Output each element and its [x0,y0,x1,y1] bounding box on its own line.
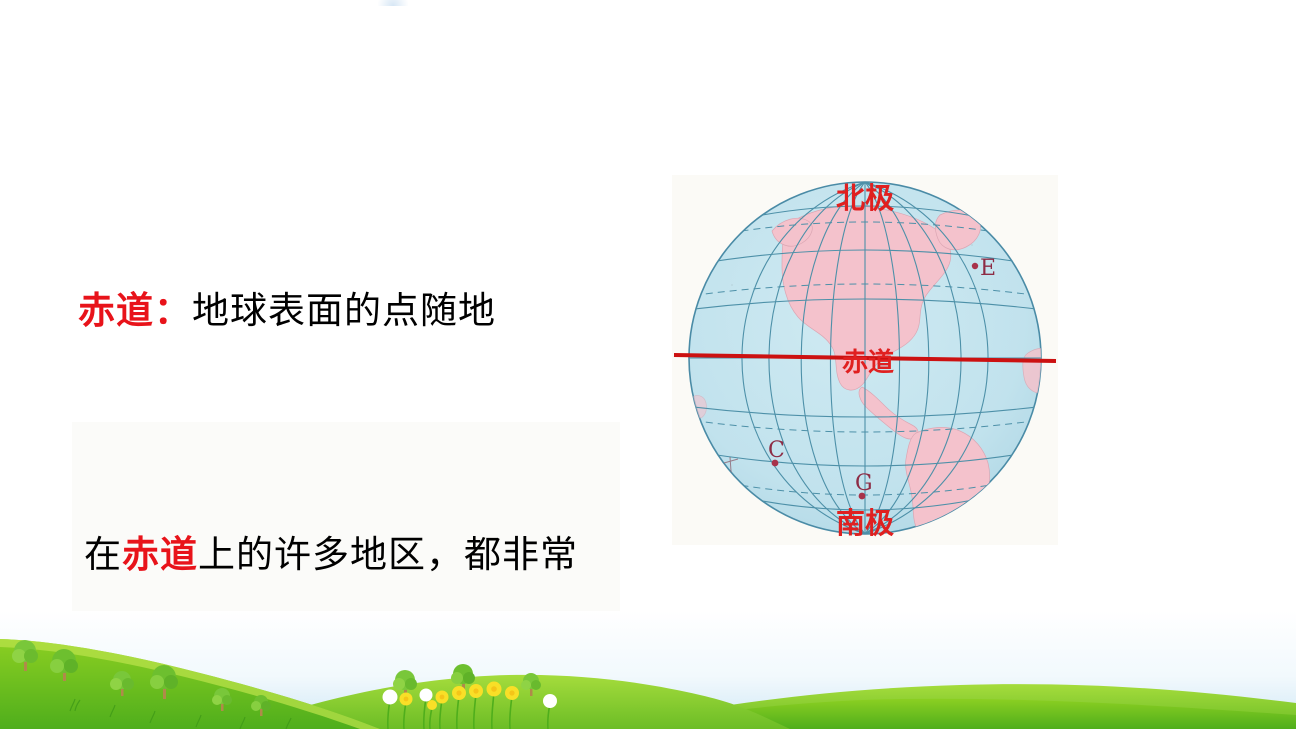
usage-line-1-post: 上的许多地区，都非常 [198,533,578,576]
keyword-equator-1: 赤道： [78,288,192,332]
usage-line-1-pre: 在 [84,533,122,576]
slide-root: 赤道：地球表面的点随地 球自转产生的轨迹中周长 最长的圆周线。 在赤道上的许多地… [0,0,1296,729]
top-decorative-mark [378,0,408,6]
usage-line-1: 在赤道上的许多地区，都非常 [84,530,612,579]
point-marker-G: G [855,471,873,499]
definition-line-1: 赤道：地球表面的点随地 [72,286,632,335]
keyword-equator-2: 赤道 [122,532,198,576]
point-label-G: G [855,471,873,496]
point-marker-C: C [768,438,785,466]
footer-landscape [0,611,1296,729]
label-equator: 赤道 [842,347,894,378]
globe-figure: 北极 南极 赤道 E C G [672,175,1058,545]
label-north-pole: 北极 [836,181,894,215]
label-south-pole: 南极 [836,506,894,540]
point-label-C: C [768,438,785,463]
point-label-E: E [980,256,996,281]
definition-line-1-rest: 地球表面的点随地 [192,289,496,332]
